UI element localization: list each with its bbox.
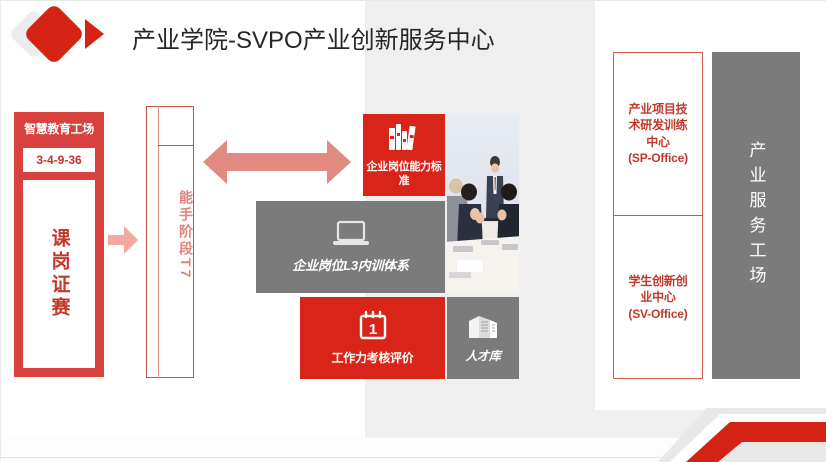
industry-service-factory-label: 产业服务工场 — [744, 141, 769, 291]
sp-office-cell[interactable]: 产业项目技术研发训练中心(SP-Office) — [613, 52, 703, 215]
books-icon — [387, 122, 421, 157]
tile-capability-standard[interactable]: 企业岗位能力标准 — [363, 114, 445, 196]
sv-office-cell[interactable]: 学生创新创业中心(SV-Office) — [613, 216, 703, 379]
double-headed-arrow-icon — [203, 140, 351, 184]
stage-t7-inner-vertical-line — [158, 106, 159, 378]
card-title: 智慧教育工场 — [14, 120, 104, 137]
sp-office-label: 产业项目技术研发训练中心(SP-Office) — [628, 101, 688, 166]
stage-t7-inner-horizontal-line — [158, 145, 194, 146]
stage-t7-label: 能手阶段T7 — [160, 190, 193, 280]
logo-triangle-icon — [85, 19, 104, 49]
metrics-badge: 3-4-9-36 — [23, 148, 95, 172]
meeting-room-photo — [447, 114, 519, 293]
slide-canvas: 产业学院-SVPO产业创新服务中心 智慧教育工场 3-4-9-36 课岗证赛 能… — [0, 0, 826, 462]
calendar-icon: 1 — [357, 310, 389, 347]
card-inner-label: 课岗证赛 — [50, 228, 69, 320]
logo — [14, 6, 118, 62]
industry-service-factory-label-wrap: 产业服务工场 — [712, 52, 800, 379]
page-title: 产业学院-SVPO产业创新服务中心 — [132, 20, 495, 55]
smart-education-factory-card: 智慧教育工场 3-4-9-36 课岗证赛 — [14, 112, 104, 377]
card-inner-panel: 课岗证赛 — [23, 180, 95, 368]
tile-label: 工作力考核评价 — [332, 351, 414, 366]
tile-label: 企业岗位能力标准 — [363, 161, 445, 189]
top-divider-line — [0, 0, 826, 1]
left-divider-line — [0, 0, 1, 462]
sv-office-label: 学生创新创业中心(SV-Office) — [628, 273, 687, 322]
tile-label: 企业岗位L3内训体系 — [292, 258, 408, 274]
laptop-icon — [331, 219, 371, 254]
calendar-day-number: 1 — [368, 321, 376, 338]
tile-l3-training-system[interactable]: 企业岗位L3内训体系 — [256, 201, 445, 293]
building-icon — [466, 312, 500, 345]
tile-label: 人才库 — [465, 349, 500, 364]
tile-talent-pool[interactable]: 人才库 — [447, 297, 519, 379]
tile-work-ability-evaluation[interactable]: 1 工作力考核评价 — [300, 297, 445, 379]
right-arrow-icon — [108, 226, 138, 254]
